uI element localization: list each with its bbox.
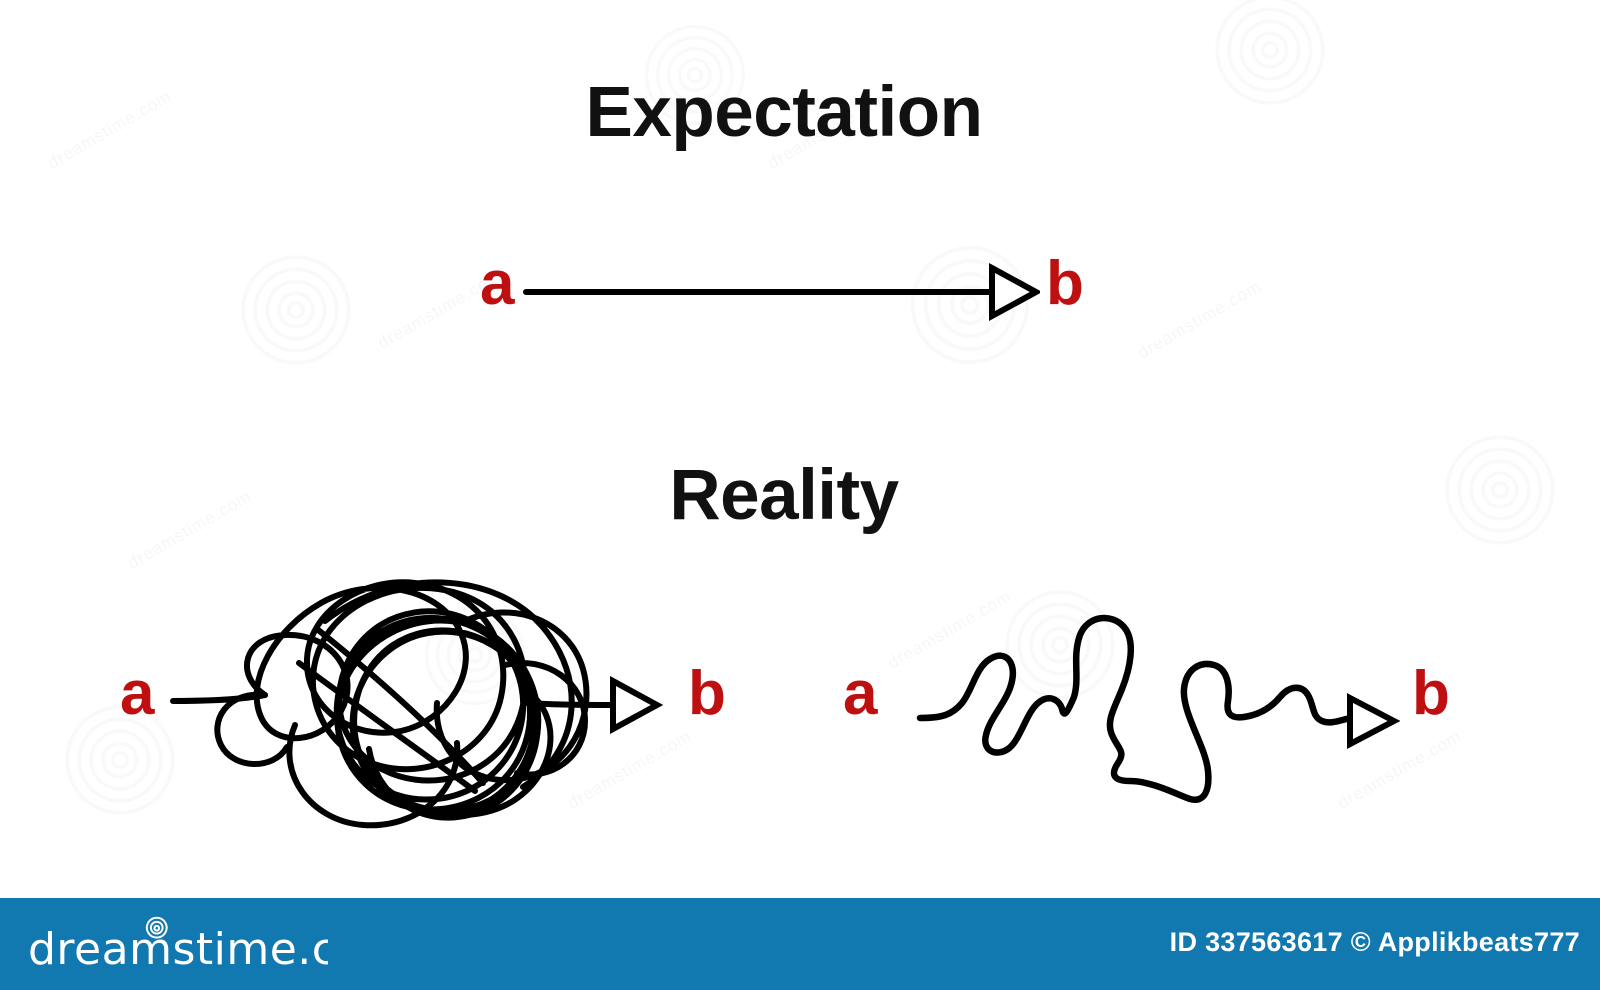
expectation-node-a-label: a: [480, 253, 514, 315]
image-credit-text: ID 337563617 © Applikbeats777: [1170, 927, 1580, 958]
reality-wave-node-b-label: b: [1412, 663, 1450, 725]
expectation-node-b-label: b: [1046, 253, 1084, 315]
reality-wave-node-a-label: a: [843, 663, 877, 725]
image-canvas: dreamstime.com dreamstime.com dreamstime…: [0, 0, 1600, 990]
section-title-expectation: Expectation: [0, 72, 1568, 153]
expectation-straight-arrow: [520, 240, 1040, 350]
dreamstime-logo-text: dreamstime.com: [28, 924, 328, 975]
watermark-spiral-icon: [236, 250, 356, 370]
reality-tangled-scribble-arrow: [165, 525, 685, 845]
reality-tangle-node-a-label: a: [120, 663, 154, 725]
footer-bar: dreamstime.com ID 337563617 © Applikbeat…: [0, 898, 1600, 990]
reality-tangle-node-b-label: b: [688, 663, 726, 725]
dreamstime-logo[interactable]: dreamstime.com: [28, 914, 328, 976]
watermark-text: dreamstime.com: [1134, 276, 1265, 363]
reality-wavy-squiggle-arrow: [890, 585, 1400, 815]
section-title-reality: Reality: [0, 455, 1568, 536]
